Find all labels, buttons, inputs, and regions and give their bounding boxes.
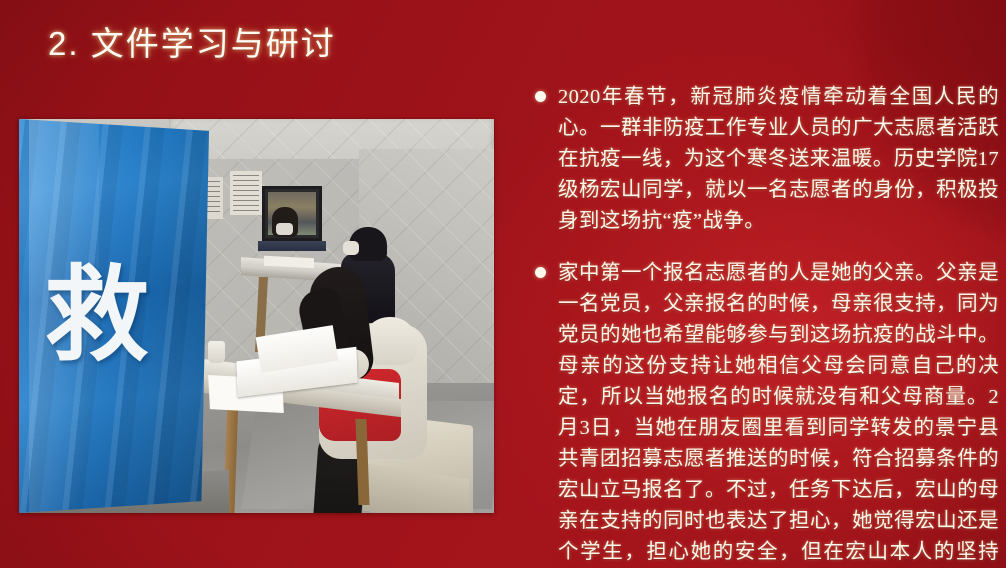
- body-text-column: 2020年春节，新冠肺炎疫情牵动着全国人民的心。一群非防疫工作专业人员的广大志愿…: [533, 82, 999, 568]
- bullet-paragraph-1: 2020年春节，新冠肺炎疫情牵动着全国人民的心。一群非防疫工作专业人员的广大志愿…: [533, 82, 999, 237]
- slide-photo: 救: [19, 119, 494, 513]
- face-mask-standing-person: [343, 241, 359, 255]
- paper-cup: [208, 341, 225, 363]
- face-mask-window-person: [276, 223, 293, 235]
- banner-character-jiu: 救: [37, 261, 157, 371]
- presentation-slide: 2. 文件学习与研讨: [0, 0, 1006, 568]
- window-shelf: [258, 241, 326, 251]
- bullet-point-icon: [535, 91, 546, 102]
- wall-notice-right: [230, 171, 262, 215]
- bullet-point-icon: [535, 267, 546, 278]
- bullet-paragraph-2: 家中第一个报名志愿者的人是她的父亲。父亲是一名党员，父亲报名的时候，母亲很支持，…: [533, 258, 999, 568]
- paragraph-2-text: 家中第一个报名志愿者的人是她的父亲。父亲是一名党员，父亲报名的时候，母亲很支持，…: [558, 262, 999, 568]
- page-title: 2. 文件学习与研讨: [48, 22, 336, 66]
- paragraph-1-text: 2020年春节，新冠肺炎疫情牵动着全国人民的心。一群非防疫工作专业人员的广大志愿…: [558, 86, 999, 232]
- photo-scene: 救: [19, 119, 494, 513]
